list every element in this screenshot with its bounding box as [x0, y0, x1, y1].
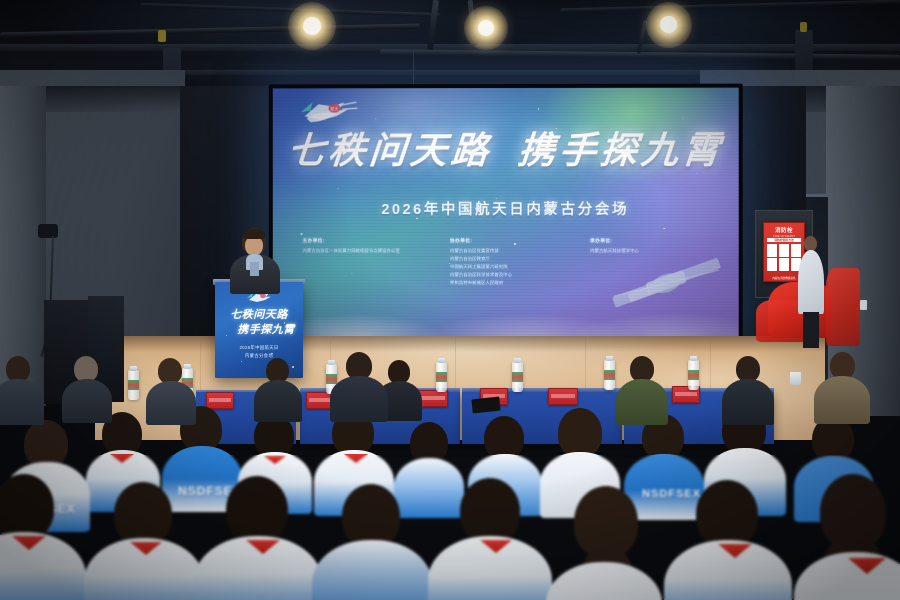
paper-cup: [790, 372, 801, 385]
organizer-heading: 主办单位:: [303, 238, 450, 244]
student-uniform: [0, 532, 86, 600]
organizer-column-host: 主办单位: 内蒙古自治区一体化算力网络枢纽节点建设办公室: [303, 238, 450, 287]
organizer-heading: 承办单位:: [590, 238, 708, 244]
water-bottle-label: [436, 372, 447, 382]
satellite-spacecraft-graphic: [606, 246, 727, 320]
hydrant-step-icon: [779, 258, 789, 271]
ceiling-sensor-right: [800, 22, 807, 32]
student-uniform: [546, 562, 662, 600]
person-coat: [798, 250, 824, 314]
water-bottle-cap: [130, 366, 137, 371]
organizer-line: 内蒙古自治区党委宣传部: [450, 246, 590, 254]
person-head: [226, 476, 288, 544]
svg-text:航天: 航天: [330, 105, 338, 111]
person-jacket: [814, 376, 870, 424]
organizer-line: 内蒙古自治区科学技术普及中心: [450, 271, 590, 279]
person-head: [114, 482, 172, 546]
organizer-line: 呼和浩特市新城区人民政府: [450, 279, 590, 287]
podium-title-line1: 七秩问天路: [215, 308, 303, 323]
water-bottle-cap: [438, 358, 445, 363]
studio-light-head: [38, 224, 58, 238]
ceiling-spotlight-3: [660, 16, 677, 33]
person-head: [804, 236, 817, 251]
person-head: [24, 420, 68, 468]
person-suit: [146, 381, 196, 425]
speaker-hair-top: [243, 229, 265, 239]
hydrant-step-icon: [767, 244, 777, 257]
student-uniform: [394, 458, 464, 518]
organizer-line: 内蒙古自治区教育厅: [450, 255, 590, 263]
podium-title-line2: 携手探九霄: [215, 323, 303, 338]
person-suit: [62, 379, 112, 423]
speaker-shirt-front: [250, 262, 259, 276]
podium-sub-line1: 2026年中国航天日: [215, 344, 303, 352]
hydrant-band-text: 消防栓使用方法: [767, 238, 801, 242]
hydrant-sign-band: 消防栓使用方法: [767, 238, 801, 242]
screen-main-title: 七秩问天路携手探九霄: [273, 132, 739, 169]
podium-title: 七秩问天路 携手探九霄: [215, 308, 303, 338]
podium-subtitle: 2026年中国航天日 内蒙古分会场: [215, 344, 303, 361]
person-head: [830, 352, 855, 379]
person-head: [460, 478, 520, 544]
led-display-screen: 航天 七秩问天路携手探九霄 2026年中国航天日内蒙古分会场 主办单位: 内蒙古…: [269, 84, 743, 343]
ceiling-spotlight-1: [303, 17, 321, 35]
uniform-logo-text: NSDFSEX: [642, 488, 701, 500]
person-head: [696, 480, 758, 548]
water-bottle-label: [128, 380, 139, 390]
person-suit: [0, 379, 44, 425]
water-bottle-label: [688, 370, 699, 380]
ceiling-sensor-left: [158, 30, 166, 42]
water-bottle-cap: [184, 364, 191, 369]
hydrant-sign-subtitle: FIRE HYDRANT: [764, 234, 804, 238]
title-right-phrase: 携手探九霄: [516, 128, 725, 172]
wall-light-switch: [860, 300, 867, 310]
person-suit: [330, 376, 388, 422]
person-suit: [722, 379, 774, 425]
red-draped-cover-right: [826, 268, 860, 346]
person-head-ponytail: [558, 408, 602, 458]
conference-hall-scene: 航天 七秩问天路携手探九霄 2026年中国航天日内蒙古分会场 主办单位: 内蒙古…: [0, 0, 900, 600]
china-space-day-logo: 航天: [297, 96, 359, 132]
hydrant-step-icon: [791, 244, 801, 257]
hydrant-instruction-grid: [767, 244, 801, 271]
speaker-face: [245, 236, 263, 256]
organizer-column-coorganizer: 协办单位: 内蒙古自治区党委宣传部 内蒙古自治区教育厅 中国航天科工集团第六研究…: [450, 238, 590, 288]
student-uniform: [312, 540, 432, 600]
screen-content: 航天 七秩问天路携手探九霄 2026年中国航天日内蒙古分会场 主办单位: 内蒙古…: [273, 88, 739, 339]
podium-sub-line2: 内蒙古分会场: [215, 352, 303, 360]
organizer-line: 中国航天科工集团第六研究院: [450, 263, 590, 271]
person-suit: [254, 380, 302, 422]
speaker-podium: 七秩问天路 携手探九霄 2026年中国航天日 内蒙古分会场: [215, 282, 303, 378]
organizer-heading: 协办单位:: [450, 238, 590, 244]
person-head: [342, 484, 400, 548]
audience-seating: NSDFSEX NSDFSEX: [0, 400, 900, 600]
water-bottle-cap: [328, 360, 335, 365]
person-legs: [803, 312, 819, 348]
stage-floor-shadow: [95, 336, 825, 352]
ceiling-spotlight-2: [478, 20, 494, 36]
military-uniform: [616, 379, 668, 425]
hydrant-step-icon: [767, 258, 777, 271]
water-bottle-cap: [606, 356, 613, 361]
water-bottle-label: [326, 374, 337, 384]
water-bottle-label: [604, 370, 615, 380]
organizer-line: 内蒙古自治区一体化算力网络枢纽节点建设办公室: [303, 246, 450, 254]
water-bottle-cap: [514, 358, 521, 363]
title-left-phrase: 七秩问天路: [286, 128, 494, 172]
water-bottle-cap: [690, 356, 697, 361]
hydrant-step-icon: [779, 244, 789, 257]
water-bottle-label: [512, 372, 523, 382]
person-head: [0, 474, 54, 540]
screen-subtitle: 2026年中国航天日内蒙古分会场: [273, 198, 739, 219]
